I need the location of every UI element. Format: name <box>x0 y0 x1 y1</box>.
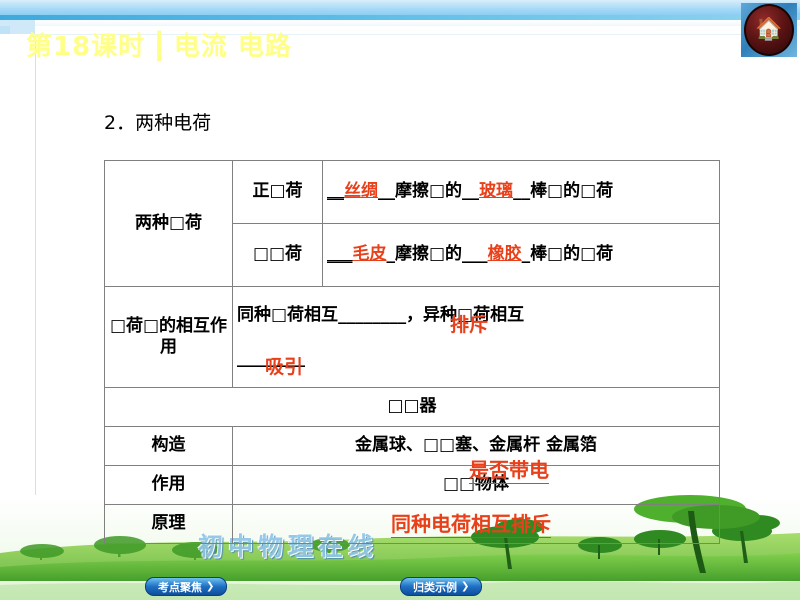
cell-interaction-desc: 同种□荷相互________，异种□荷相互 ________ <box>233 287 720 388</box>
cell-principle-label: 原理 <box>105 505 233 544</box>
ink-annotation-repel: 排斥 <box>450 310 488 337</box>
text-rod-charge: __棒□的□荷 <box>513 181 613 201</box>
nav-button-key-points[interactable]: 考点聚焦 ❯ <box>145 577 227 596</box>
answer-fur: 毛皮 <box>353 244 387 264</box>
answer-silk: 丝绸 <box>344 181 378 201</box>
cell-positive-charge-label: 正□荷 <box>233 161 323 224</box>
cell-negative-charge-label: □□荷 <box>233 224 323 287</box>
blank-pre-a: __ <box>327 181 344 201</box>
ink-annotation-attract: 吸引 <box>265 352 303 379</box>
nav-button-key-points-label: 考点聚焦 <box>158 579 202 595</box>
blank-same: ________ <box>338 305 406 325</box>
ink-annotation-same-repel: 同种电荷相互排斥 <box>391 508 551 538</box>
ink-annotation-charged: 是否带电 <box>469 454 549 484</box>
table-row: 构造 金属球、□□塞、金属杆 金属箔 <box>105 427 720 466</box>
text-rod-charge-2: _棒□的□荷 <box>522 244 614 264</box>
cell-electroscope-header: □□器 <box>105 388 720 427</box>
cell-negative-charge-desc: ___毛皮_摩擦□的___橡胶_棒□的□荷 <box>323 224 720 287</box>
home-icon: 🏠 <box>755 19 782 41</box>
page-title-separator: ┃ <box>145 32 174 62</box>
charge-table-wrapper: 两种□荷 正□荷 __丝绸__摩擦□的__玻璃__棒□的□荷 □□荷 ___毛皮… <box>104 160 720 544</box>
blank-pre-b: ___ <box>327 244 353 264</box>
chevron-right-icon: ❯ <box>206 581 214 592</box>
table-row: □□器 <box>105 388 720 427</box>
cell-function-label: 作用 <box>105 466 233 505</box>
cell-structure-label: 构造 <box>105 427 233 466</box>
home-button[interactable]: 🏠 <box>741 3 797 57</box>
text-rub-rubber: _摩擦□的___ <box>387 244 488 264</box>
nav-button-examples-label: 归类示例 <box>413 579 457 595</box>
nav-button-examples[interactable]: 归类示例 ❯ <box>400 577 482 596</box>
chevron-right-icon: ❯ <box>461 581 469 592</box>
charge-table: 两种□荷 正□荷 __丝绸__摩擦□的__玻璃__棒□的□荷 □□荷 ___毛皮… <box>104 160 720 544</box>
page-title-sub: 电流 电路 <box>174 32 292 62</box>
home-button-circle: 🏠 <box>744 4 794 56</box>
cell-two-charges-label: 两种□荷 <box>105 161 233 287</box>
page-title: 第18课时┃电流 电路 <box>26 26 292 63</box>
table-row: 两种□荷 正□荷 __丝绸__摩擦□的__玻璃__棒□的□荷 <box>105 161 720 224</box>
table-row: 作用 □□物体 <box>105 466 720 505</box>
header-left-stub-small <box>0 26 10 34</box>
answer-glass: 玻璃 <box>479 181 513 201</box>
header-band-gradient <box>0 0 800 15</box>
slide-canvas: 第18课时┃电流 电路 🏠 2．两种电荷 两种□荷 正□荷 __丝绸__摩擦□的… <box>0 0 800 600</box>
answer-rubber: 橡胶 <box>488 244 522 264</box>
text-same-charge: 同种□荷相互 <box>237 305 338 325</box>
cell-interaction-label: □荷□的相互作用 <box>105 287 233 388</box>
table-row: □荷□的相互作用 同种□荷相互________，异种□荷相互 ________ <box>105 287 720 388</box>
page-title-main: 第18课时 <box>26 32 145 62</box>
text-rub-glass: __摩擦□的__ <box>378 181 479 201</box>
section-heading: 2．两种电荷 <box>104 108 211 135</box>
cell-positive-charge-desc: __丝绸__摩擦□的__玻璃__棒□的□荷 <box>323 161 720 224</box>
